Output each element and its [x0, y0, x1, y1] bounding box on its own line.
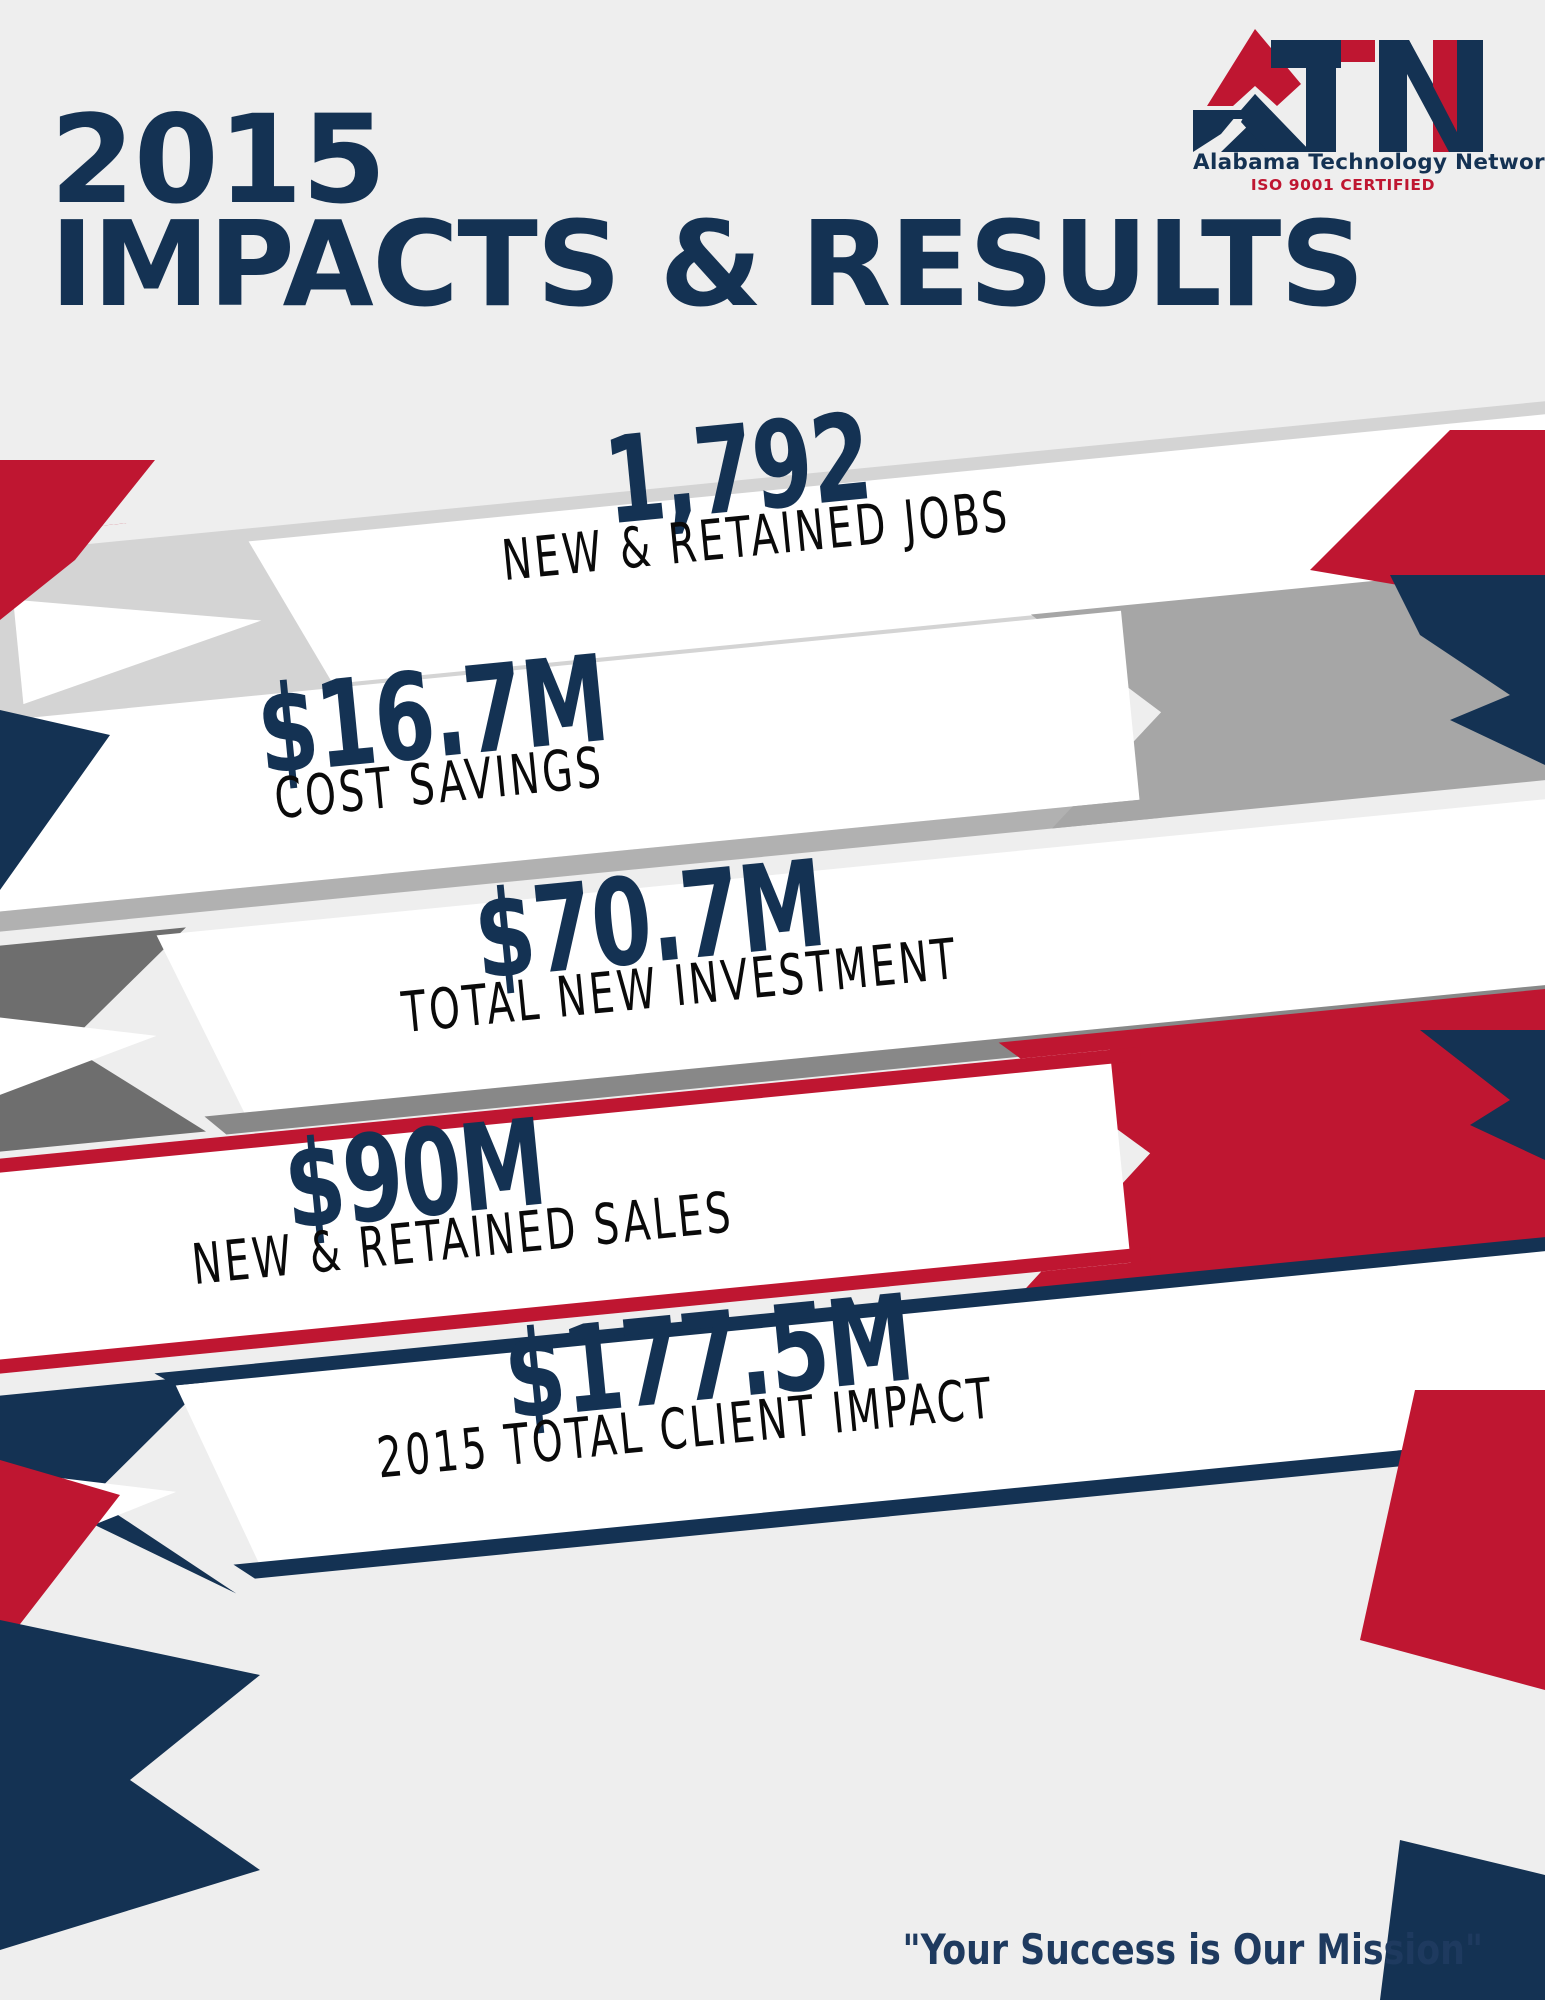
bottom-left-navy-decor [0, 1620, 330, 2000]
page-title: 2015 IMPACTS & RESULTS [50, 110, 1363, 319]
right-navy-corner-decor [1300, 575, 1545, 875]
right-navy-decor-2 [1280, 1030, 1545, 1270]
footer-tagline: "Your Success is Our Mission" [903, 1925, 1483, 1974]
atn-logo: Alabama Technology Network ISO 9001 CERT… [1193, 24, 1493, 204]
left-navy-corner-decor [0, 680, 220, 930]
atn-logo-mark-icon [1193, 24, 1493, 154]
title-main: IMPACTS & RESULTS [50, 210, 1363, 319]
infographic-poster: 2015 IMPACTS & RESULTS Alabama Technolog… [0, 0, 1545, 2000]
logo-org-name: Alabama Technology Network [1193, 150, 1493, 175]
logo-iso-certification: ISO 9001 CERTIFIED [1193, 176, 1493, 194]
right-red-decor-2 [1250, 1390, 1545, 1720]
